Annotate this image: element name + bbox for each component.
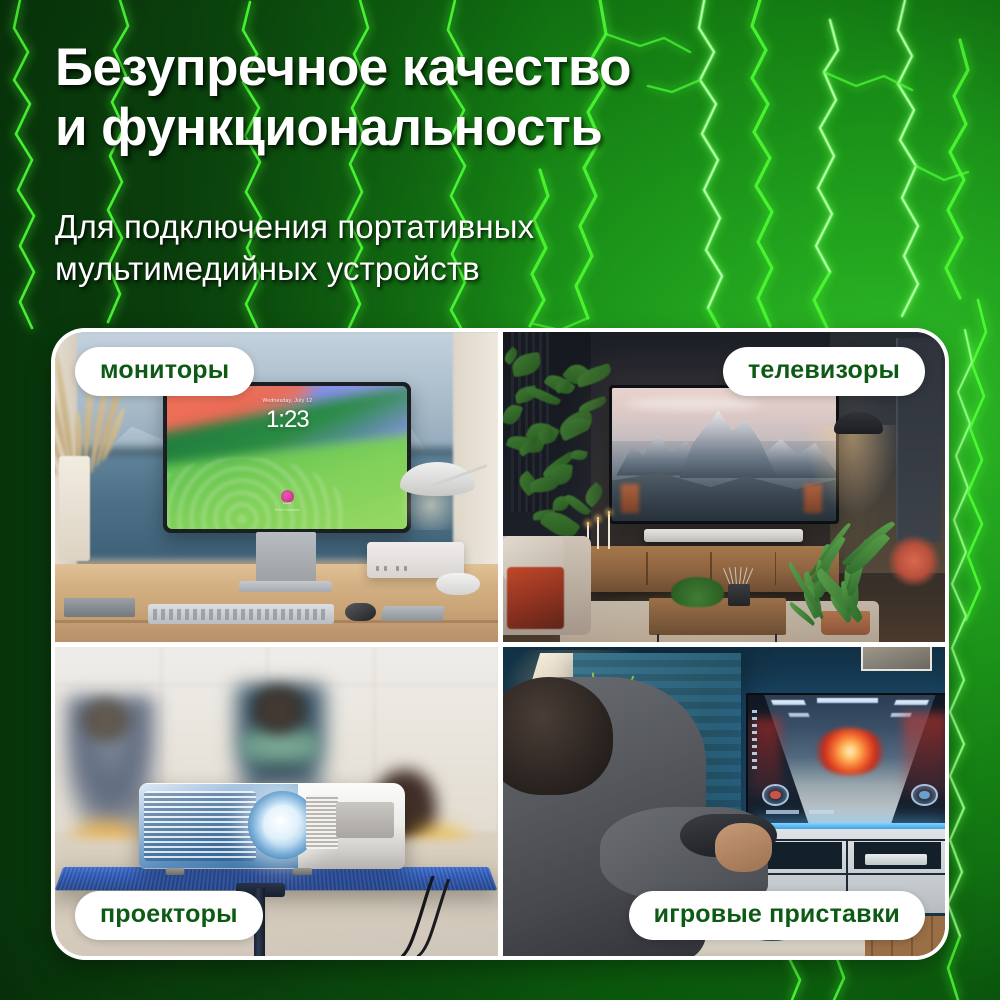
- keyboard: [148, 604, 334, 624]
- monitor-stand-neck: [256, 532, 316, 585]
- game-hud-right-dial: [911, 784, 938, 806]
- projector-foot-right: [293, 868, 312, 876]
- notebook: [64, 598, 135, 617]
- monitor-stand-foot: [239, 581, 332, 592]
- category-cell-tvs[interactable]: телевизоры: [503, 332, 946, 642]
- pencil-holder: [728, 584, 750, 606]
- leaf: [529, 477, 559, 493]
- projector[interactable]: [139, 783, 405, 870]
- coffee-table-leg-right: [775, 634, 777, 642]
- candle-flame: [608, 511, 610, 514]
- candle-flame: [597, 517, 599, 520]
- projector-lens-inner: [263, 805, 302, 846]
- vase: [59, 456, 90, 561]
- candles: [587, 508, 618, 548]
- monitor-screen: Wednesday, July 12 1:23 User Enter Passw…: [167, 386, 407, 530]
- game-hud-bar-2: [809, 810, 833, 813]
- game-light-strip-3: [894, 700, 929, 705]
- credenza-seam-3: [775, 552, 777, 585]
- game-hud-left-dial: [762, 784, 789, 806]
- lockscreen-date: Wednesday, July 12: [167, 398, 407, 404]
- leaf: [503, 402, 524, 427]
- pencil: [735, 567, 737, 586]
- candle-flame: [587, 522, 589, 525]
- pencil-holder-sticks: [730, 567, 748, 586]
- category-cell-monitors[interactable]: Wednesday, July 12 1:23 User Enter Passw…: [55, 332, 498, 642]
- page-title-line-2: и функциональность: [55, 98, 815, 158]
- flowers: [887, 536, 940, 586]
- projector-vents: [144, 791, 256, 860]
- candle: [597, 520, 599, 549]
- computer-monitor[interactable]: Wednesday, July 12 1:23 User Enter Passw…: [163, 382, 411, 534]
- game-light-strip-4: [788, 713, 810, 717]
- leaf: [570, 449, 587, 462]
- media-unit-shelf-line-1: [754, 839, 945, 841]
- projector-foot-left: [166, 868, 185, 876]
- game-explosion: [815, 728, 884, 774]
- plant-right: [799, 536, 883, 629]
- category-cell-consoles[interactable]: игровые приставки: [503, 647, 946, 957]
- game-hud-bar-1: [766, 810, 799, 813]
- desk-lamp-base: [436, 573, 480, 595]
- game-hud-meter: [752, 710, 757, 772]
- lockscreen-password-hint: Enter Password: [167, 508, 407, 512]
- page-subtitle-line-2: мультимедийных устройств: [55, 248, 775, 290]
- pencil: [739, 567, 742, 586]
- projector-side-panel: [336, 802, 394, 838]
- wall-lamp-glow: [803, 425, 900, 518]
- player-hand: [715, 823, 773, 873]
- category-photo-grid: Wednesday, July 12 1:23 User Enter Passw…: [55, 332, 945, 956]
- leaf: [581, 481, 607, 508]
- projector-cable: [365, 876, 462, 956]
- blurred-person-center-head: [254, 687, 303, 733]
- soundbar: [644, 529, 803, 543]
- game-light-strip-1: [771, 700, 806, 705]
- game-console-device: [865, 854, 927, 865]
- mouse-icon: [345, 603, 376, 622]
- keyboard-keys: [153, 609, 328, 620]
- wall-poster: [861, 647, 932, 672]
- game-hud-right-core: [919, 791, 930, 800]
- coffee-table-leg-left: [657, 634, 659, 642]
- badge-consoles[interactable]: игровые приставки: [629, 891, 925, 940]
- lockscreen-clock: 1:23: [167, 406, 407, 434]
- candle: [608, 514, 610, 549]
- game-hud-left-core: [770, 791, 781, 800]
- game-light-strip-2: [817, 698, 878, 703]
- badge-monitors[interactable]: мониторы: [75, 347, 254, 396]
- badge-projectors[interactable]: проекторы: [75, 891, 263, 940]
- gaming-tv-screen: [748, 695, 945, 824]
- table-plant: [671, 577, 724, 608]
- tv-screen: [612, 388, 836, 521]
- computer-ports: [376, 566, 379, 571]
- page-subtitle-line-1: Для подключения портативных: [55, 206, 775, 248]
- category-cell-projectors[interactable]: проекторы: [55, 647, 498, 957]
- trackpad: [381, 606, 445, 621]
- projector-grill: [306, 795, 338, 849]
- badge-tvs[interactable]: телевизоры: [723, 347, 925, 396]
- credenza-seam-1: [646, 552, 648, 585]
- page-title: Безупречное качество и функциональность: [55, 38, 815, 159]
- lockscreen-username: User: [167, 500, 407, 505]
- tv-image-foliage-left: [621, 484, 639, 513]
- plant-left: [503, 351, 600, 543]
- page-title-line-1: Безупречное качество: [55, 38, 815, 98]
- gaming-television[interactable]: [746, 693, 945, 826]
- media-unit-shelf-line-2: [754, 873, 945, 875]
- red-throw-blanket: [507, 567, 565, 629]
- page-subtitle: Для подключения портативных мультимедийн…: [55, 206, 775, 290]
